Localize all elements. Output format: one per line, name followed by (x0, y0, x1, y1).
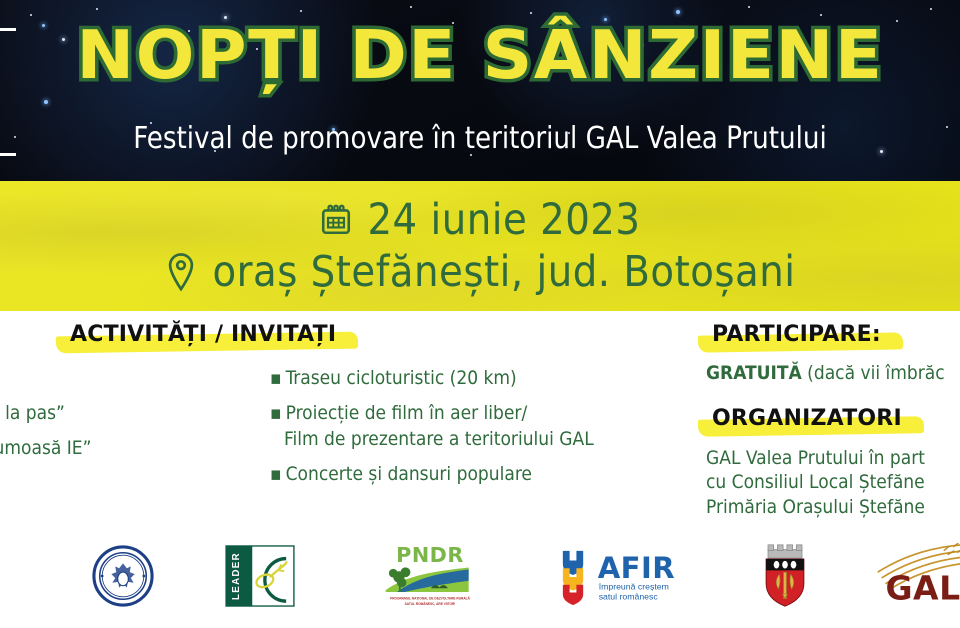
page-subtitle: Festival de promovare în teritoriul GAL … (14, 122, 945, 155)
pndr-logo: PNDR PROGRAMUL NAȚIONAL DE DEZVOLTARE RU… (370, 530, 490, 622)
bullet-icon: ▪ (270, 402, 282, 424)
organizer-line: Primăria Orașului Ștefăne (706, 495, 960, 519)
list-item: – ”Cea mai frumoasă IE” (0, 439, 282, 458)
participation-value: GRATUITĂ (706, 362, 802, 384)
organizers-heading: ORGANIZATORI (706, 406, 908, 434)
guvernul-romaniei-logo (70, 530, 175, 622)
organizer-line: cu Consiliul Local Ștefăne (706, 470, 960, 494)
afir-tagline-2: satul românesc (599, 591, 659, 601)
bullet-icon: ▪ (270, 463, 282, 485)
event-date: 24 iunie 2023 (367, 195, 640, 245)
participation-heading: PARTICIPARE: (706, 322, 887, 350)
organizers-heading-wrap: ORGANIZATORI (706, 406, 960, 434)
leader-logo: LEADER (205, 530, 315, 622)
svg-text:AFIR: AFIR (598, 551, 675, 585)
hero-starfield-section: NOPȚI DE SÂNZIENE Festival de promovare … (0, 0, 960, 181)
activities-heading-wrap: ACTIVITĂȚI / INVITAȚI (64, 322, 342, 350)
sponsor-logo-strip: LEADER PNDR (0, 530, 960, 622)
bullet-icon: ▪ (270, 367, 282, 389)
participation-note: (dacă vii îmbrăc (807, 362, 945, 384)
activity-text: Traseu cicloturistic (20 km) (286, 367, 517, 389)
activity-subtext: Film de prezentare a teritoriului GAL (270, 430, 690, 449)
title-block: NOPȚI DE SÂNZIENE (0, 22, 960, 89)
afir-logo: AFIR împreună creștem satul românesc (545, 530, 695, 622)
event-location-row: oraș Ștefănești, jud. Botoșani (164, 247, 795, 297)
activities-list-right: ▪Traseu cicloturistic (20 km) ▪Proiecție… (270, 369, 690, 500)
list-item: at ”Ștefănești la pas” (0, 404, 282, 423)
activities-list-left: pentru copii at ”Ștefănești la pas” – ”C… (0, 369, 282, 474)
list-item: ▪Proiecție de film în aer liber/ Film de… (270, 404, 690, 449)
participation-organizers-column: PARTICIPARE: GRATUITĂ (dacă vii îmbrăc O… (706, 322, 960, 519)
svg-text:GAL: GAL (886, 568, 960, 607)
participation-heading-wrap: PARTICIPARE: (706, 322, 960, 350)
pndr-tagline-2: SATUL ROMÂNESC, ARE VIITOR! (405, 601, 456, 606)
activity-text: at ”Ștefănești la pas” (0, 402, 65, 424)
afir-tagline-1: împreună creștem (598, 582, 669, 592)
page-title: NOPȚI DE SÂNZIENE (0, 22, 960, 89)
svg-text:PNDR: PNDR (396, 543, 464, 567)
list-item: ▪Concerte și dansuri populare (270, 465, 690, 484)
map-pin-icon (164, 252, 198, 292)
participation-value-row: GRATUITĂ (dacă vii îmbrăc (706, 362, 960, 384)
event-location: oraș Ștefănești, jud. Botoșani (212, 247, 795, 297)
gal-logo: GAL (870, 530, 960, 622)
activity-text: Proiecție de film în aer liber/ (286, 402, 528, 424)
pndr-tagline-1: PROGRAMUL NAȚIONAL DE DEZVOLTARE RURALĂ (390, 596, 471, 601)
organizer-line: GAL Valea Prutului în part (706, 446, 960, 470)
activity-text: Concerte și dansuri populare (286, 463, 532, 485)
event-date-row: 24 iunie 2023 (319, 195, 640, 245)
organizers-list: GAL Valea Prutului în part cu Consiliul … (706, 446, 960, 519)
svg-text:LEADER: LEADER (231, 552, 242, 600)
event-poster: NOPȚI DE SÂNZIENE Festival de promovare … (0, 0, 960, 628)
calendar-icon (319, 203, 353, 237)
stema-stefanesti-logo (740, 530, 830, 622)
activities-heading: ACTIVITĂȚI / INVITAȚI (64, 322, 342, 350)
list-item: ▪Traseu cicloturistic (20 km) (270, 369, 690, 388)
activity-text: – ”Cea mai frumoasă IE” (0, 437, 91, 459)
date-location-banner: 24 iunie 2023 oraș Ștefănești, jud. Boto… (0, 181, 960, 311)
list-item: pentru copii (0, 369, 282, 388)
